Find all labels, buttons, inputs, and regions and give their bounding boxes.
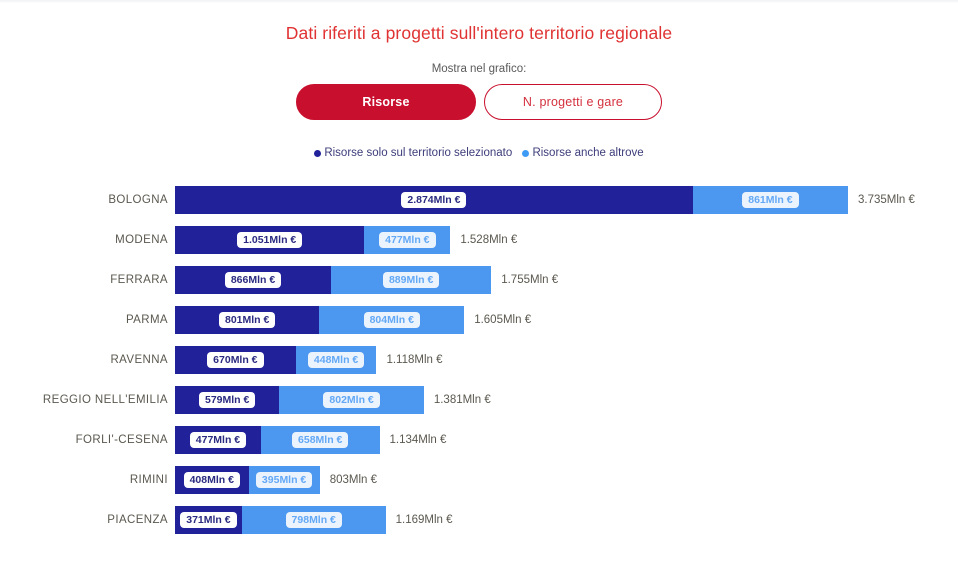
bar-row-total-label: 1.134Mln €	[390, 426, 447, 454]
bar-segment-value-badge: 861Mln €	[742, 192, 798, 208]
bar-segment-risorse-territorio[interactable]: 408Mln €	[175, 466, 249, 494]
bar-row: BOLOGNA2.874Mln €861Mln €3.735Mln €	[0, 186, 958, 214]
legend-dot-icon	[522, 150, 529, 157]
bar-segment-risorse-altrove[interactable]: 658Mln €	[261, 426, 380, 454]
bar-row-total-label: 1.755Mln €	[501, 266, 558, 294]
bar-row-category-label: PARMA	[126, 306, 168, 334]
bar-row-category-label: RAVENNA	[110, 346, 168, 374]
bar-segment-risorse-altrove[interactable]: 477Mln €	[364, 226, 450, 254]
bar-row-total-label: 1.118Mln €	[386, 346, 442, 374]
bar-row: FERRARA866Mln €889Mln €1.755Mln €	[0, 266, 958, 294]
bar-segment-risorse-altrove[interactable]: 861Mln €	[693, 186, 848, 214]
bar-segment-value-badge: 798Mln €	[286, 512, 342, 528]
toggle-caption-label: Mostra nel grafico:	[0, 63, 958, 75]
legend-item-label: Risorse solo sul territorio selezionato	[324, 147, 512, 159]
bar-segment-value-badge: 395Mln €	[256, 472, 312, 488]
bar-track: 408Mln €395Mln €	[175, 466, 320, 494]
bar-row-category-label: RIMINI	[130, 466, 168, 494]
legend-item-risorse-altrove[interactable]: Risorse anche altrove	[522, 147, 643, 159]
chart-legend: Risorse solo sul territorio selezionato …	[0, 147, 958, 160]
bar-row-category-label: BOLOGNA	[108, 186, 168, 214]
bar-track: 579Mln €802Mln €	[175, 386, 424, 414]
bar-segment-value-badge: 889Mln €	[383, 272, 439, 288]
bar-segment-risorse-altrove[interactable]: 802Mln €	[279, 386, 424, 414]
bar-track: 866Mln €889Mln €	[175, 266, 491, 294]
bar-segment-value-badge: 804Mln €	[364, 312, 420, 328]
bar-track: 371Mln €798Mln €	[175, 506, 386, 534]
bar-segment-risorse-territorio[interactable]: 1.051Mln €	[175, 226, 364, 254]
bar-segment-value-badge: 802Mln €	[323, 392, 379, 408]
bar-row-category-label: MODENA	[115, 226, 168, 254]
bar-segment-risorse-altrove[interactable]: 889Mln €	[331, 266, 491, 294]
bar-segment-value-badge: 658Mln €	[292, 432, 348, 448]
bar-row-category-label: PIACENZA	[107, 506, 168, 534]
bar-segment-risorse-territorio[interactable]: 801Mln €	[175, 306, 319, 334]
bar-row-total-label: 803Mln €	[330, 466, 377, 494]
bar-segment-risorse-territorio[interactable]: 2.874Mln €	[175, 186, 693, 214]
bar-segment-value-badge: 1.051Mln €	[237, 232, 302, 248]
bar-segment-value-badge: 477Mln €	[190, 432, 246, 448]
bar-segment-risorse-altrove[interactable]: 804Mln €	[319, 306, 464, 334]
bar-row: PARMA801Mln €804Mln €1.605Mln €	[0, 306, 958, 334]
legend-item-label: Risorse anche altrove	[532, 147, 643, 159]
page-title: Dati riferiti a progetti sull'intero ter…	[0, 23, 958, 44]
bar-segment-value-badge: 477Mln €	[379, 232, 435, 248]
chart-mode-selector: Mostra nel grafico: Risorse N. progetti …	[0, 63, 958, 120]
bar-segment-risorse-territorio[interactable]: 866Mln €	[175, 266, 331, 294]
bar-row: RIMINI408Mln €395Mln €803Mln €	[0, 466, 958, 494]
bar-segment-value-badge: 448Mln €	[308, 352, 364, 368]
bar-segment-risorse-altrove[interactable]: 395Mln €	[249, 466, 320, 494]
bar-row-total-label: 1.381Mln €	[434, 386, 491, 414]
legend-item-risorse-territorio[interactable]: Risorse solo sul territorio selezionato	[314, 147, 512, 159]
bar-segment-risorse-altrove[interactable]: 798Mln €	[242, 506, 386, 534]
bar-track: 477Mln €658Mln €	[175, 426, 380, 454]
bar-segment-risorse-territorio[interactable]: 579Mln €	[175, 386, 279, 414]
bar-row: PIACENZA371Mln €798Mln €1.169Mln €	[0, 506, 958, 534]
legend-dot-icon	[314, 150, 321, 157]
bar-row: RAVENNA670Mln €448Mln €1.118Mln €	[0, 346, 958, 374]
toggle-progetti-gare-button[interactable]: N. progetti e gare	[484, 84, 662, 120]
toggle-button-group: Risorse N. progetti e gare	[296, 84, 662, 120]
bar-segment-value-badge: 866Mln €	[225, 272, 281, 288]
bar-row-total-label: 1.169Mln €	[396, 506, 453, 534]
bar-track: 801Mln €804Mln €	[175, 306, 464, 334]
bar-track: 670Mln €448Mln €	[175, 346, 376, 374]
bar-row-total-label: 3.735Mln €	[858, 186, 915, 214]
bar-segment-risorse-territorio[interactable]: 371Mln €	[175, 506, 242, 534]
bar-segment-value-badge: 371Mln €	[180, 512, 236, 528]
bar-row: MODENA1.051Mln €477Mln €1.528Mln €	[0, 226, 958, 254]
toggle-risorse-button[interactable]: Risorse	[296, 84, 476, 120]
bar-row-category-label: REGGIO NELL'EMILIA	[43, 386, 168, 414]
bar-segment-value-badge: 408Mln €	[184, 472, 240, 488]
bar-segment-risorse-territorio[interactable]: 670Mln €	[175, 346, 296, 374]
bar-segment-value-badge: 579Mln €	[199, 392, 255, 408]
bar-segment-value-badge: 670Mln €	[207, 352, 263, 368]
bar-segment-risorse-territorio[interactable]: 477Mln €	[175, 426, 261, 454]
bar-row: FORLI'-CESENA477Mln €658Mln €1.134Mln €	[0, 426, 958, 454]
bar-row-total-label: 1.605Mln €	[474, 306, 531, 334]
bar-track: 1.051Mln €477Mln €	[175, 226, 450, 254]
bar-row-total-label: 1.528Mln €	[460, 226, 517, 254]
bar-row-category-label: FERRARA	[110, 266, 168, 294]
bar-segment-risorse-altrove[interactable]: 448Mln €	[296, 346, 377, 374]
bar-row-category-label: FORLI'-CESENA	[76, 426, 168, 454]
bar-row: REGGIO NELL'EMILIA579Mln €802Mln €1.381M…	[0, 386, 958, 414]
bar-track: 2.874Mln €861Mln €	[175, 186, 848, 214]
stacked-bar-chart: BOLOGNA2.874Mln €861Mln €3.735Mln €MODEN…	[0, 186, 958, 546]
bar-segment-value-badge: 2.874Mln €	[401, 192, 466, 208]
top-divider	[0, 0, 958, 3]
bar-segment-value-badge: 801Mln €	[219, 312, 275, 328]
